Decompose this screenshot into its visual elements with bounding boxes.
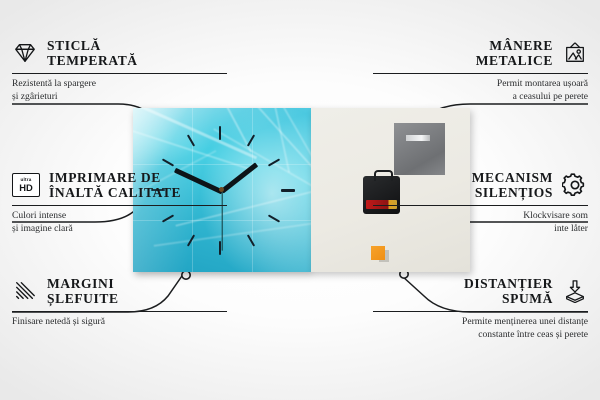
divider bbox=[12, 73, 227, 74]
feature-title-line1: DISTANȚIER bbox=[464, 276, 553, 291]
foam-spacer bbox=[371, 246, 385, 260]
feature-subtitle: Klockvisare som inte låter bbox=[373, 210, 588, 235]
press-down-pad-icon bbox=[562, 279, 588, 303]
ultra-hd-large-text: HD bbox=[19, 183, 33, 192]
feature-subtitle: Rezistentă la spargere și zgârieturi bbox=[12, 78, 227, 103]
feature-title-line2: TEMPERATĂ bbox=[47, 53, 138, 68]
feature-edges: MARGINI ȘLEFUITE Finisare netedă și sigu… bbox=[12, 276, 227, 329]
metal-hanger-plate bbox=[394, 123, 445, 175]
infographic-canvas: STICLĂ TEMPERATĂ Rezistentă la spargere … bbox=[0, 0, 600, 400]
divider bbox=[12, 311, 227, 312]
feature-title-line2: SPUMĂ bbox=[502, 291, 553, 306]
gear-icon bbox=[562, 173, 588, 197]
feature-subtitle: Culori intense și imagine clară bbox=[12, 210, 227, 235]
feature-title-line2: SILENȚIOS bbox=[475, 185, 553, 200]
divider bbox=[12, 205, 227, 206]
feature-title-line2: ÎNALTĂ CALITATE bbox=[49, 185, 181, 200]
feature-mechanism: MECANISM SILENȚIOS Klockvisare som inte … bbox=[373, 170, 588, 235]
polished-edge-icon bbox=[12, 279, 38, 303]
feature-title-line2: ȘLEFUITE bbox=[47, 291, 119, 306]
feature-title-line1: STICLĂ bbox=[47, 38, 138, 53]
feature-spacer: DISTANȚIER SPUMĂ Permite menținerea unei… bbox=[373, 276, 588, 341]
feature-subtitle: Finisare netedă și sigură bbox=[12, 316, 227, 328]
diamond-icon bbox=[12, 41, 38, 65]
feature-subtitle: Permit montarea ușoară a ceasului pe per… bbox=[373, 78, 588, 103]
hanger-slot bbox=[406, 135, 430, 141]
picture-frame-hanging-icon bbox=[562, 41, 588, 65]
divider bbox=[373, 205, 588, 206]
feature-title-line1: MÂNERE bbox=[489, 38, 553, 53]
clock-tick bbox=[281, 189, 295, 192]
divider bbox=[373, 73, 588, 74]
feature-hangers: MÂNERE METALICE Permit montarea ușoară a… bbox=[373, 38, 588, 103]
feature-print: ultra HD IMPRIMARE DE ÎNALTĂ CALITATE Cu… bbox=[12, 170, 227, 235]
ultra-hd-icon: ultra HD bbox=[12, 173, 40, 197]
feature-title-line1: IMPRIMARE DE bbox=[49, 170, 181, 185]
feature-title-line1: MARGINI bbox=[47, 276, 119, 291]
feature-title-line1: MECANISM bbox=[472, 170, 553, 185]
clock-tick bbox=[219, 126, 221, 140]
divider bbox=[373, 311, 588, 312]
feature-subtitle: Permite menținerea unei distanțe constan… bbox=[373, 316, 588, 341]
feature-glass: STICLĂ TEMPERATĂ Rezistentă la spargere … bbox=[12, 38, 227, 103]
feature-title-line2: METALICE bbox=[476, 53, 553, 68]
